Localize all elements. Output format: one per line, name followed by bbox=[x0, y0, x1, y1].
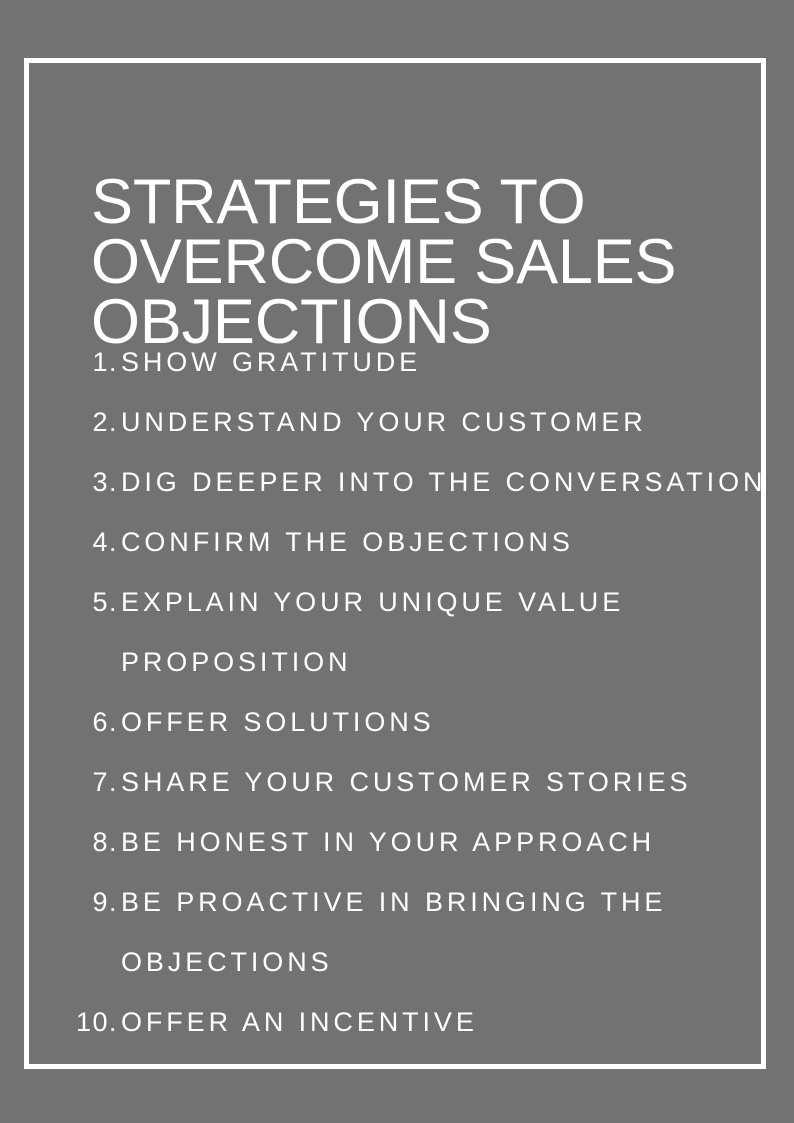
list-item: 10.Offer An Incentive bbox=[0, 1007, 794, 1067]
list-item: 7.Share Your Customer Stories bbox=[0, 767, 794, 827]
list-item-continuation: 9.Objections bbox=[0, 947, 794, 1007]
list-item: 2.Understand Your Customer bbox=[0, 407, 794, 467]
list-item-number: 1. bbox=[0, 347, 118, 377]
list-item-label: Share Your Customer Stories bbox=[118, 767, 794, 797]
list-item-label: Show Gratitude bbox=[118, 347, 794, 377]
list-item: 6.Offer Solutions bbox=[0, 707, 794, 767]
list-item: 1.Show Gratitude bbox=[0, 347, 794, 407]
poster-content: Strategies to Overcome Sales Objections … bbox=[0, 0, 794, 1123]
list-item-label: Dig Deeper Into The Conversation bbox=[118, 467, 794, 497]
list-item-label: Be Honest In Your Approach bbox=[118, 827, 794, 857]
list-item-number: 7. bbox=[0, 767, 118, 797]
list-item-number: 9. bbox=[0, 887, 118, 917]
list-item-number: 6. bbox=[0, 707, 118, 737]
list-item-number: 5. bbox=[0, 587, 118, 617]
list-item-number: 10. bbox=[0, 1007, 118, 1037]
list-item-continuation-label: Objections bbox=[118, 947, 794, 977]
list-item-number: 4. bbox=[0, 527, 118, 557]
list-item-number: 8. bbox=[0, 827, 118, 857]
list-item-label: Confirm The Objections bbox=[118, 527, 794, 557]
list-item-label: Offer An Incentive bbox=[118, 1007, 794, 1037]
page-title: Strategies to Overcome Sales Objections bbox=[91, 172, 731, 352]
list-item: 4.Confirm The Objections bbox=[0, 527, 794, 587]
poster: Strategies to Overcome Sales Objections … bbox=[0, 0, 794, 1123]
list-item-number: 3. bbox=[0, 467, 118, 497]
list-item-label: Be Proactive In Bringing The bbox=[118, 887, 794, 917]
numbered-list: 1.Show Gratitude2.Understand Your Custom… bbox=[0, 347, 794, 1067]
list-item-continuation-label: Proposition bbox=[118, 647, 794, 677]
list-item: 3.Dig Deeper Into The Conversation bbox=[0, 467, 794, 527]
list-item: 5.Explain Your Unique Value bbox=[0, 587, 794, 647]
list-item-continuation: 5.Proposition bbox=[0, 647, 794, 707]
list-item-label: Understand Your Customer bbox=[118, 407, 794, 437]
list-item-label: Offer Solutions bbox=[118, 707, 794, 737]
list-item: 9.Be Proactive In Bringing The bbox=[0, 887, 794, 947]
list-item-number: 2. bbox=[0, 407, 118, 437]
list-item-label: Explain Your Unique Value bbox=[118, 587, 794, 617]
list-item: 8.Be Honest In Your Approach bbox=[0, 827, 794, 887]
